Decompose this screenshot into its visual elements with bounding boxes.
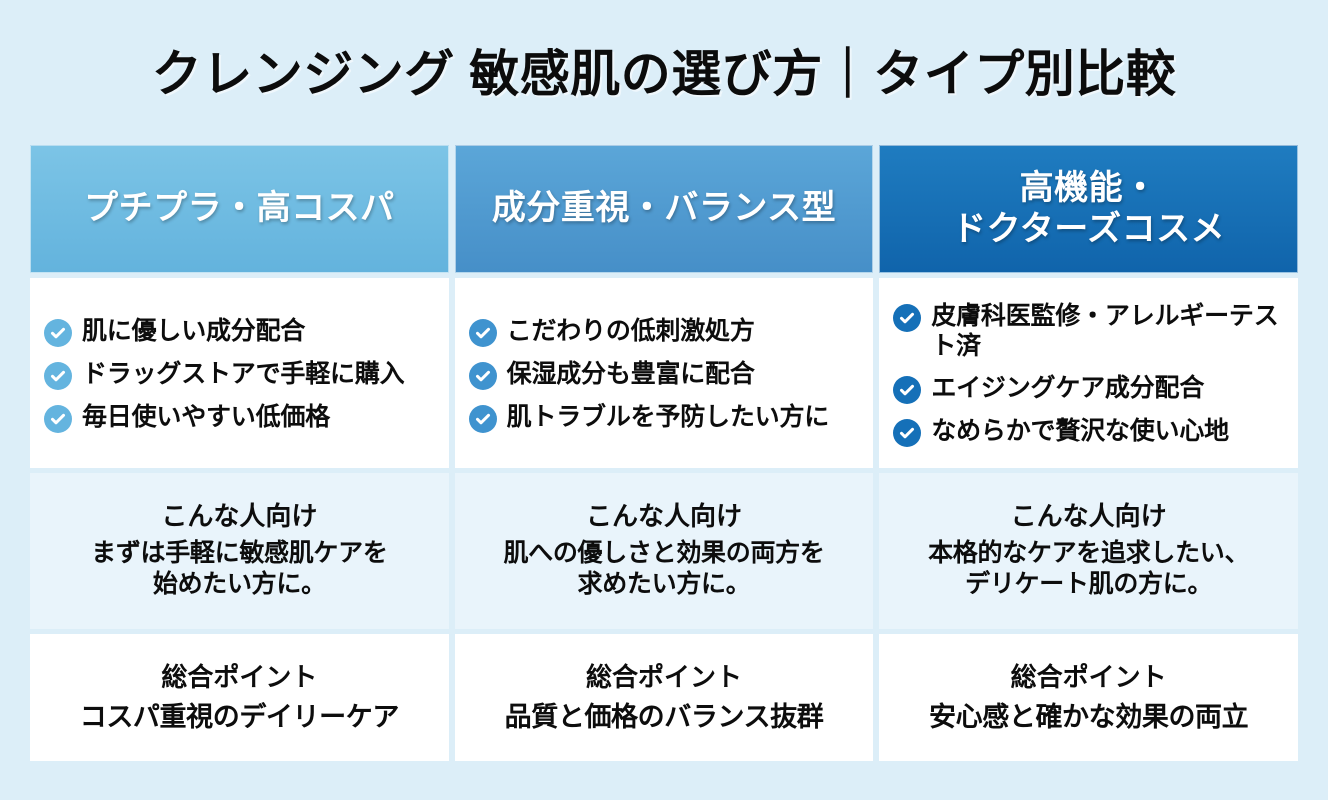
title-bar: クレンジング 敏感肌の選び方｜タイプ別比較 [0,0,1328,140]
feature-item: なめらかで贅沢な使い心地 [893,416,1286,447]
target-cell-3: こんな人向け 本格的なケアを追求したい、 デリケート肌の方に。 [879,473,1298,629]
feature-item: こだわりの低刺激処方 [469,316,862,347]
summary-cell-2: 総合ポイント 品質と価格のバランス抜群 [455,634,874,761]
column-header-3-line2: ドクターズコスメ [952,209,1225,250]
target-text-line1: 肌への優しさと効果の両方を [503,538,824,570]
check-circle-icon [893,304,921,332]
check-circle-icon [44,405,72,433]
column-header-3: 高機能・ ドクターズコスメ [879,145,1298,273]
check-circle-icon [469,319,497,347]
column-header-2: 成分重視・バランス型 [455,145,874,273]
summary-cell-3: 総合ポイント 安心感と確かな効果の両立 [879,634,1298,761]
summary-heading: 総合ポイント [586,662,742,693]
target-text-line2: デリケート肌の方に。 [928,569,1249,601]
comparison-column-2: 成分重視・バランス型 こだわりの低刺激処方 保湿成分も豊富に配合 [455,145,874,761]
target-text-line1: まずは手軽に敏感肌ケアを [91,538,387,570]
target-cell-2: こんな人向け 肌への優しさと効果の両方を 求めたい方に。 [455,473,874,629]
feature-label: 皮膚科医監修・アレルギーテスト済 [931,301,1286,361]
check-circle-icon [44,362,72,390]
check-circle-icon [44,319,72,347]
comparison-table: プチプラ・高コスパ 肌に優しい成分配合 ドラッグストアで手軽に購入 [30,145,1298,761]
feature-item: ドラッグストアで手軽に購入 [44,359,437,390]
column-header-2-line1: 成分重視・バランス型 [492,188,836,229]
feature-item: 皮膚科医監修・アレルギーテスト済 [893,301,1286,361]
page-title: クレンジング 敏感肌の選び方｜タイプ別比較 [152,34,1176,106]
column-header-3-line1: 高機能・ [952,168,1225,209]
target-text-line2: 求めたい方に。 [503,569,824,601]
feature-item: 毎日使いやすい低価格 [44,402,437,433]
check-circle-icon [893,419,921,447]
target-heading: こんな人向け [1011,501,1167,532]
check-circle-icon [469,362,497,390]
feature-item: エイジングケア成分配合 [893,373,1286,404]
comparison-column-1: プチプラ・高コスパ 肌に優しい成分配合 ドラッグストアで手軽に購入 [30,145,449,761]
check-circle-icon [469,405,497,433]
features-cell-3: 皮膚科医監修・アレルギーテスト済 エイジングケア成分配合 なめらかで贅沢な使い心… [879,278,1298,468]
summary-heading: 総合ポイント [1011,662,1167,693]
feature-label: 肌トラブルを予防したい方に [507,402,829,432]
comparison-column-3: 高機能・ ドクターズコスメ 皮膚科医監修・アレルギーテスト済 エイジングケア成分… [879,145,1298,761]
summary-heading: 総合ポイント [161,662,317,693]
summary-cell-1: 総合ポイント コスパ重視のデイリーケア [30,634,449,761]
summary-text: コスパ重視のデイリーケア [80,701,399,733]
column-header-1: プチプラ・高コスパ [30,145,449,273]
summary-text: 品質と価格のバランス抜群 [505,701,824,733]
summary-text: 安心感と確かな効果の両立 [929,701,1248,733]
feature-label: こだわりの低刺激処方 [507,316,755,346]
target-text-line1: 本格的なケアを追求したい、 [928,538,1249,570]
features-cell-1: 肌に優しい成分配合 ドラッグストアで手軽に購入 毎日使いやすい低価格 [30,278,449,468]
column-header-1-line1: プチプラ・高コスパ [84,188,395,229]
target-heading: こんな人向け [161,501,317,532]
feature-item: 肌に優しい成分配合 [44,316,437,347]
feature-label: 毎日使いやすい低価格 [82,402,330,432]
feature-label: ドラッグストアで手軽に購入 [82,359,404,389]
check-circle-icon [893,376,921,404]
feature-label: 肌に優しい成分配合 [82,316,305,346]
feature-label: なめらかで贅沢な使い心地 [931,416,1229,446]
feature-label: エイジングケア成分配合 [931,373,1204,403]
infographic-page: クレンジング 敏感肌の選び方｜タイプ別比較 プチプラ・高コスパ 肌に優しい成分配… [0,0,1328,800]
feature-item: 肌トラブルを予防したい方に [469,402,862,433]
feature-item: 保湿成分も豊富に配合 [469,359,862,390]
target-heading: こんな人向け [586,501,742,532]
target-cell-1: こんな人向け まずは手軽に敏感肌ケアを 始めたい方に。 [30,473,449,629]
features-cell-2: こだわりの低刺激処方 保湿成分も豊富に配合 肌トラブルを予防したい方に [455,278,874,468]
feature-label: 保湿成分も豊富に配合 [507,359,755,389]
target-text-line2: 始めたい方に。 [91,569,387,601]
